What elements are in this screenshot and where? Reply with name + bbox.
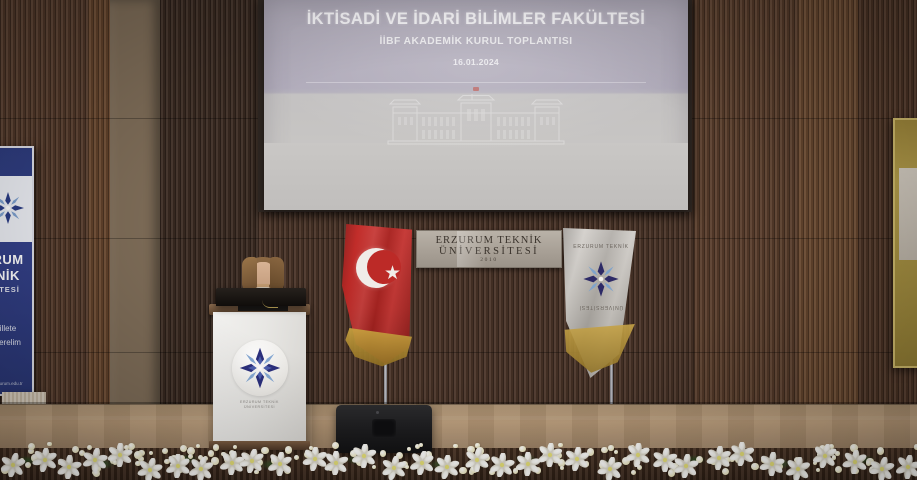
banner-line1: RUM [0,252,32,267]
lily-bloom [706,446,732,470]
wall-panel-right [694,0,798,425]
lily-bloom [489,453,515,477]
university-pennant-flag: ERZURUM TEKNİK ÜNİVERSİTESİ [556,228,656,403]
slide-subtitle: İİBF AKADEMİK KURUL TOPLANTISI [264,36,688,47]
lily-bloom [625,443,651,467]
framed-tapestry-right [893,118,917,368]
banner-line3: İTESİ [0,285,32,294]
presenter-hair-right [270,257,284,291]
lily-bloom [0,453,26,477]
lily-bloom [82,448,108,472]
crescent-star-icon [356,248,400,306]
tapestry-inner-panel [899,168,917,260]
banner-footer: erzurum.edu.tr [0,381,32,386]
lily-bloom [812,444,838,468]
projection-screen: İKTİSADİ VE İDARİ BİLİMLER FAKÜLTESİ İİB… [264,0,688,210]
lily-bloom [381,456,407,480]
podium-emblem [232,340,288,396]
banner-slogan2: verelim [0,338,32,347]
wall-pillar [110,0,160,430]
pennant-text-top: ERZURUM TEKNİK [570,244,632,250]
university-snowflake-emblem-icon [237,345,283,391]
monitor-led-icon [376,411,379,414]
banner-line2: NİK [0,268,32,283]
university-snowflake-emblem-icon [580,258,622,300]
presenter-hair-left [242,257,257,291]
banner-slogan1: illete [0,324,32,333]
turkish-flag [336,224,428,404]
lectern-shelf [216,288,306,306]
wall-panel-far-right [798,0,858,425]
lily-bloom [895,455,917,479]
university-building-outline-icon [386,92,566,147]
screen-lower-band [264,143,688,210]
podium-emblem-line2: ÜNİVERSİTESİ [213,405,306,410]
lily-bloom [434,455,460,479]
wall-panel-mid-left [88,0,110,420]
lily-bloom [351,444,377,468]
lily-bloom [188,457,214,480]
wall-sign-line2: ÜNİVERSİTESİ [439,246,539,257]
auditorium-photo: İKTİSADİ VE İDARİ BİLİMLER FAKÜLTESİ İİB… [0,0,917,480]
lily-bloom [597,457,623,480]
wall-sign-university: ERZURUM TEKNİK ÜNİVERSİTESİ 2010 [416,230,562,268]
podium: ERZURUM TEKNİK ÜNİVERSİTESİ [213,312,306,447]
lily-bloom [842,450,868,474]
slide-date: 16.01.2024 [264,57,688,67]
lily-bloom [32,448,58,472]
lily-bloom [759,452,785,476]
lily-bloom [729,442,755,466]
lily-bloom [323,451,349,475]
lily-bloom [107,443,133,467]
stage-floor-edge [0,402,917,405]
lily-bloom [239,449,265,473]
slide-flag-marker [473,87,479,91]
lily-bloom [673,454,699,478]
slide-title: İKTİSADİ VE İDARİ BİLİMLER FAKÜLTESİ [264,10,688,29]
flag-gold-fringe-university [560,324,638,382]
lily-bloom [267,452,293,476]
floor-back-strip [0,416,917,420]
lily-bloom [564,447,590,471]
white-lily-arrangement [0,430,917,480]
wall-sign-glare [457,231,486,267]
university-snowflake-emblem-icon [0,188,28,228]
lily-bloom [869,457,895,480]
lily-bloom [785,457,811,480]
wall-seam [0,352,917,353]
lily-bloom [537,443,563,467]
pennant-text-bottom: ÜNİVERSİTESİ [570,304,632,310]
wall-sign-line1: ERZURUM TEKNİK [436,235,543,246]
lily-bloom [464,448,490,472]
podium-emblem-text: ERZURUM TEKNİK ÜNİVERSİTESİ [213,400,306,410]
lily-bloom [137,458,163,480]
slide-divider [306,82,646,83]
rollup-banner-left: RUM NİK İTESİ illete verelim erzurum.edu… [0,146,34,396]
lily-bloom [409,451,435,475]
lily-bloom [56,455,82,479]
